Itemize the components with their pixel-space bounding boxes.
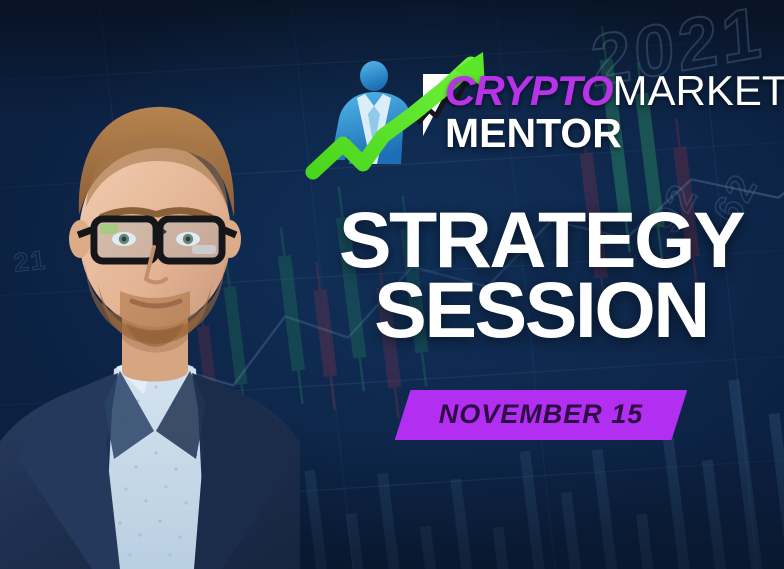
date-badge: NOVEMBER 15: [395, 390, 688, 440]
presenter-portrait: [0, 39, 300, 569]
promo-graphic: 2021 92 62 21: [0, 0, 784, 569]
brand-wordmark: CRYPTOMARKET MENTOR: [445, 72, 775, 154]
page-title: STRATEGY SESSION: [306, 205, 776, 344]
wordmark-crypto: CRYPTO: [445, 67, 613, 114]
wordmark-mentor: MENTOR: [445, 113, 775, 154]
date-badge-container: NOVEMBER 15: [306, 390, 776, 440]
brand-logo: CRYPTOMARKET MENTOR: [305, 44, 775, 184]
wordmark-market: MARKET: [613, 67, 784, 114]
title-line-2: SESSION: [306, 275, 776, 345]
